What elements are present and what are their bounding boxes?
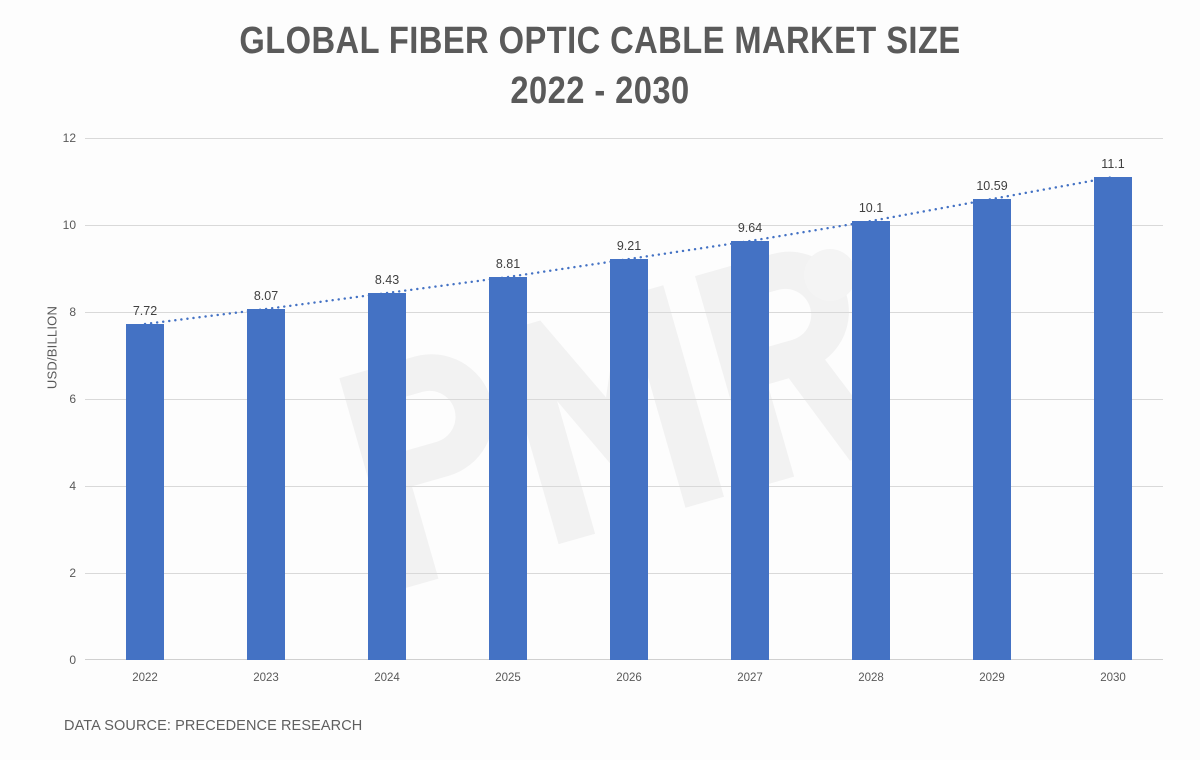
x-tick-label-2022: 2022 xyxy=(100,672,190,684)
x-tick-label-2025: 2025 xyxy=(463,672,553,684)
x-axis: 2022 2023 2024 2025 2026 2027 2028 2029 … xyxy=(0,0,1200,760)
x-tick-label-2023: 2023 xyxy=(221,672,311,684)
x-tick-label-2024: 2024 xyxy=(342,672,432,684)
data-source-note: DATA SOURCE: PRECEDENCE RESEARCH xyxy=(64,718,362,734)
x-tick-label-2029: 2029 xyxy=(947,672,1037,684)
chart-figure: GLOBAL FIBER OPTIC CABLE MARKET SIZE 202… xyxy=(0,0,1200,760)
x-tick-label-2030: 2030 xyxy=(1068,672,1158,684)
x-tick-label-2026: 2026 xyxy=(584,672,674,684)
x-tick-label-2028: 2028 xyxy=(826,672,916,684)
x-tick-label-2027: 2027 xyxy=(705,672,795,684)
